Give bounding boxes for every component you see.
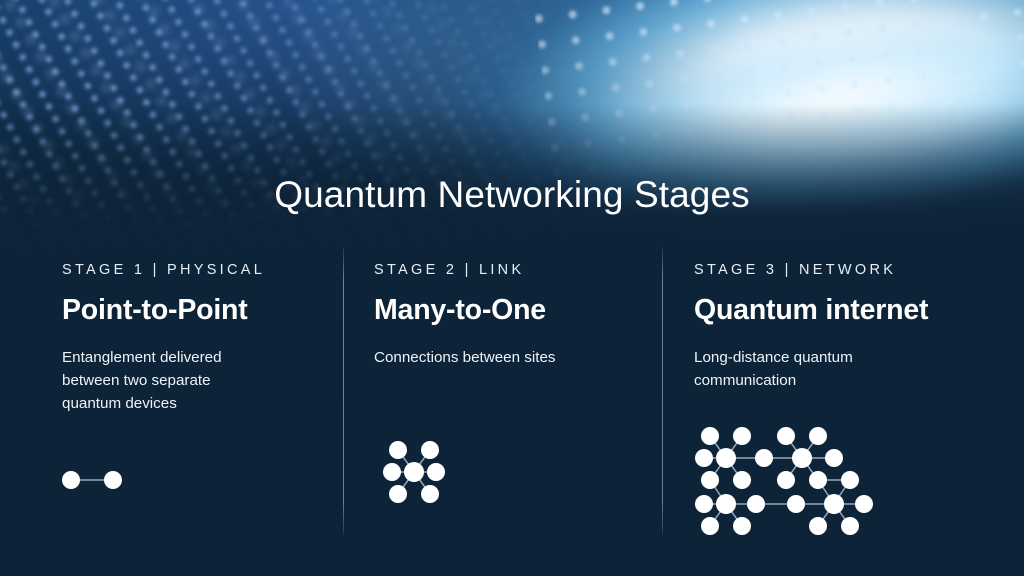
stage-eyebrow-2: STAGE 2 | LINK xyxy=(374,262,642,278)
stage-description-3: Long-distance quantum communication xyxy=(694,346,994,392)
stage-eyebrow-1: STAGE 1 | PHYSICAL xyxy=(62,262,330,278)
network-node xyxy=(825,449,843,467)
network-node xyxy=(841,471,859,489)
network-node xyxy=(787,495,805,513)
network-node xyxy=(701,427,719,445)
network-hub-node xyxy=(404,462,424,482)
network-node xyxy=(855,495,873,513)
network-node xyxy=(383,463,401,481)
stage-column-3: STAGE 3 | NETWORK Quantum internet Long-… xyxy=(694,262,994,392)
network-node xyxy=(421,441,439,459)
stage-title-1: Point-to-Point xyxy=(62,294,330,327)
network-node xyxy=(809,427,827,445)
point-to-point-svg xyxy=(60,464,132,496)
network-node xyxy=(809,471,827,489)
stage-description-1-line-1: Entanglement delivered xyxy=(62,346,330,369)
many-to-one-svg xyxy=(376,434,452,510)
quantum-internet-mesh-diagram xyxy=(692,422,876,547)
network-node xyxy=(389,441,407,459)
stage-description-1-line-3: quantum devices xyxy=(62,392,330,415)
quantum-internet-svg xyxy=(692,422,876,542)
stage-description-3-line-1: Long-distance quantum xyxy=(694,346,994,369)
stage-description-3-line-2: communication xyxy=(694,369,994,392)
network-hub-node xyxy=(716,448,736,468)
network-node xyxy=(777,427,795,445)
network-node xyxy=(809,517,827,535)
network-node xyxy=(733,517,751,535)
network-node xyxy=(421,485,439,503)
point-to-point-network-diagram xyxy=(60,464,132,501)
network-node xyxy=(701,517,719,535)
page-title: Quantum Networking Stages xyxy=(0,174,1024,216)
many-to-one-hub-spoke-diagram xyxy=(376,434,452,515)
slide-content: Quantum Networking Stages STAGE 1 | PHYS… xyxy=(0,0,1024,576)
stage-description-1: Entanglement delivered between two separ… xyxy=(62,346,330,415)
stage-description-2: Connections between sites xyxy=(374,346,642,369)
network-node xyxy=(427,463,445,481)
network-node xyxy=(389,485,407,503)
slide-canvas: Quantum Networking Stages STAGE 1 | PHYS… xyxy=(0,0,1024,576)
stage-column-1: STAGE 1 | PHYSICAL Point-to-Point Entang… xyxy=(62,262,330,415)
stage-title-3: Quantum internet xyxy=(694,294,994,327)
stage-title-2: Many-to-One xyxy=(374,294,642,327)
stage-column-2: STAGE 2 | LINK Many-to-One Connections b… xyxy=(374,262,642,369)
network-node xyxy=(747,495,765,513)
network-node xyxy=(777,471,795,489)
network-hub-node xyxy=(792,448,812,468)
column-divider-2 xyxy=(662,247,663,534)
network-node xyxy=(104,471,122,489)
network-hub-node xyxy=(824,494,844,514)
network-node xyxy=(695,449,713,467)
network-node xyxy=(701,471,719,489)
stage-description-1-line-2: between two separate xyxy=(62,369,330,392)
network-node xyxy=(733,427,751,445)
network-node xyxy=(755,449,773,467)
column-divider-1 xyxy=(343,247,344,534)
network-node xyxy=(62,471,80,489)
stage-eyebrow-3: STAGE 3 | NETWORK xyxy=(694,262,994,278)
stage-description-2-line-1: Connections between sites xyxy=(374,346,642,369)
network-node xyxy=(733,471,751,489)
network-node xyxy=(695,495,713,513)
network-node xyxy=(841,517,859,535)
network-hub-node xyxy=(716,494,736,514)
